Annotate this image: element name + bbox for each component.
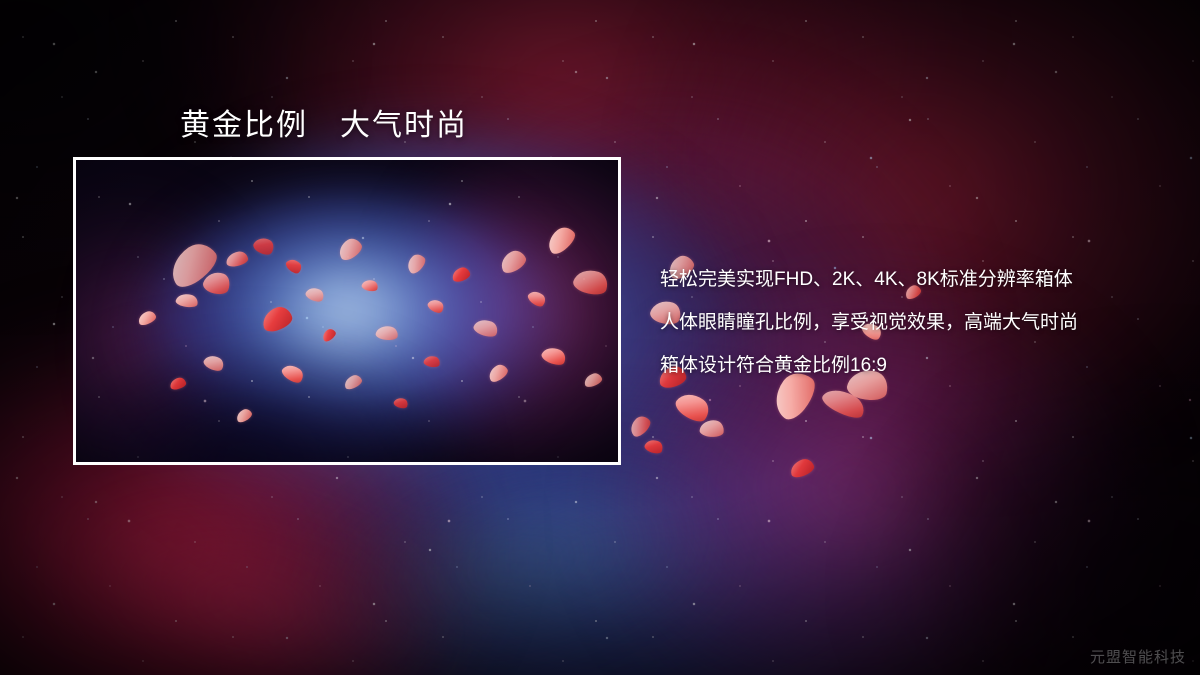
slide-title: 黄金比例 大气时尚 [180, 100, 468, 144]
presentation-slide: 黄金比例 大气时尚 轻松完美实现FHD、2K、4K、8K标准分辨率箱体 人体眼睛… [0, 0, 1200, 675]
inner-vignette [76, 160, 618, 462]
slide-body-text: 轻松完美实现FHD、2K、4K、8K标准分辨率箱体 人体眼睛瞳孔比例，享受视觉效… [660, 258, 1078, 387]
watermark-text: 元盟智能科技 [1090, 646, 1186, 667]
framed-image-nebula [76, 160, 618, 462]
framed-image [73, 157, 621, 465]
body-line-2: 人体眼睛瞳孔比例，享受视觉效果，高端大气时尚 [660, 301, 1078, 344]
body-line-3: 箱体设计符合黄金比例16:9 [660, 344, 1078, 387]
body-line-1: 轻松完美实现FHD、2K、4K、8K标准分辨率箱体 [660, 258, 1078, 301]
